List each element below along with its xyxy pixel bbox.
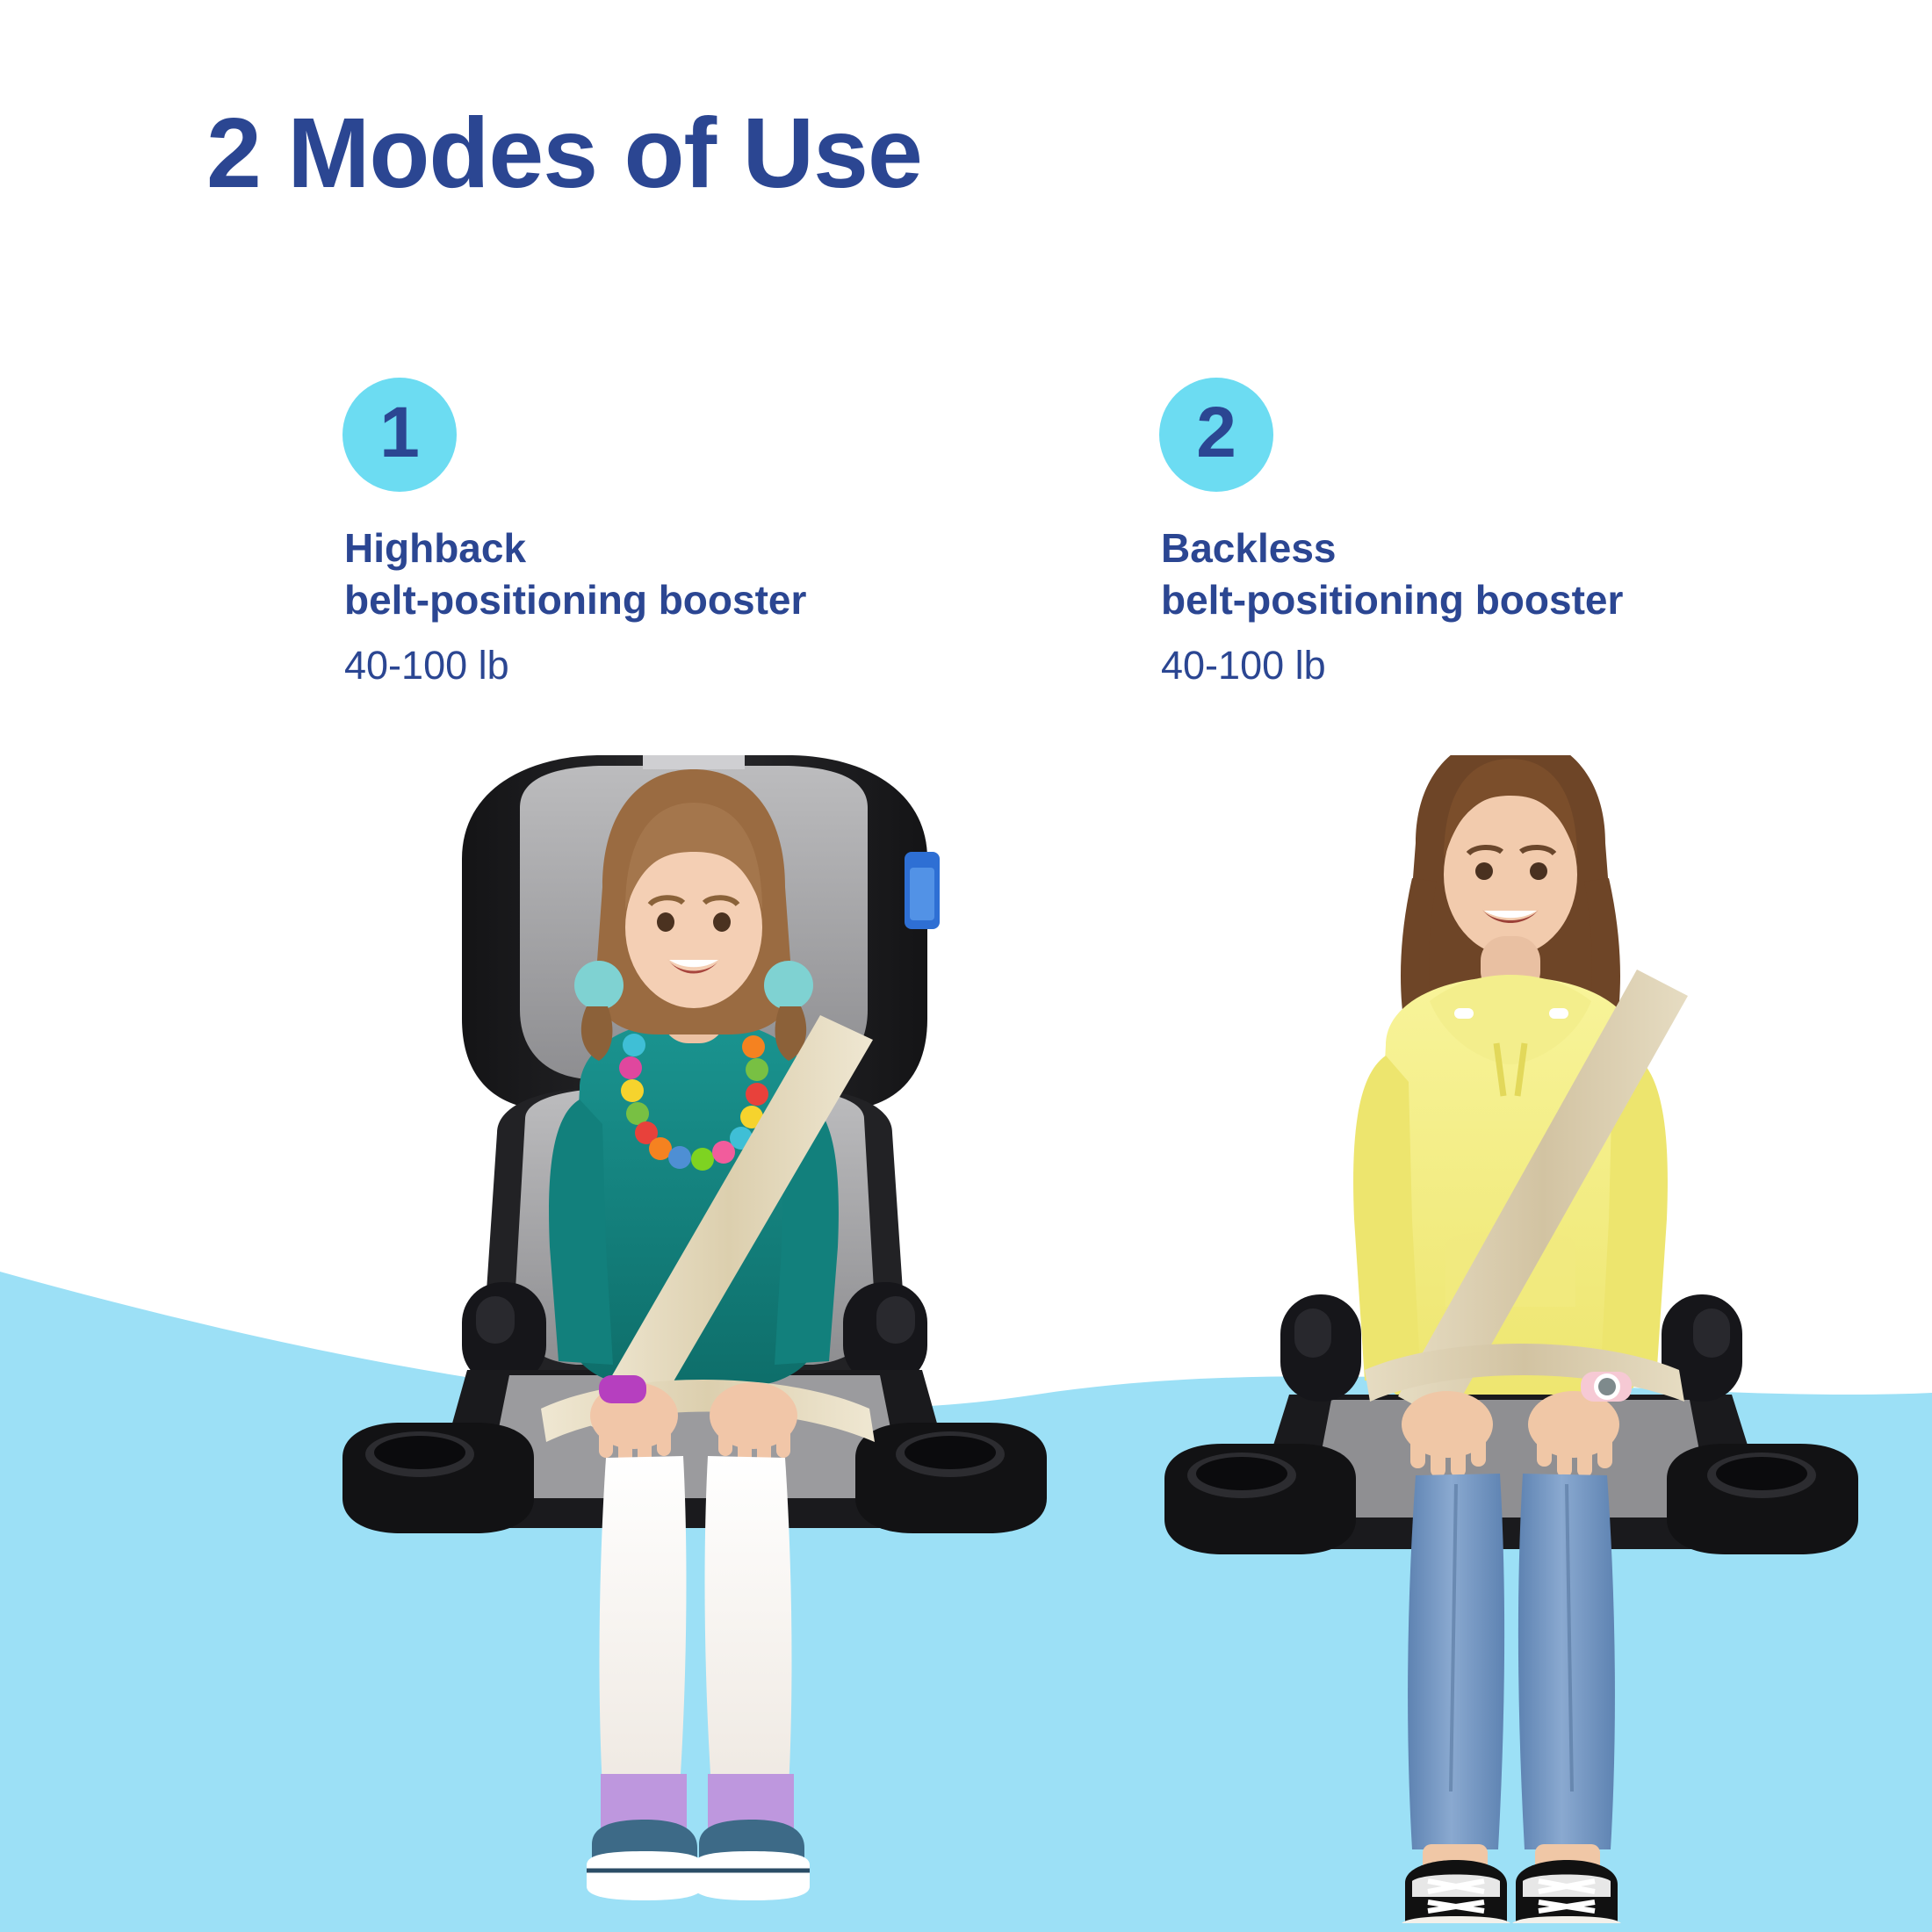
headrest-adjust-handle xyxy=(643,755,745,769)
hoodie-drawstring-left xyxy=(1454,1008,1474,1019)
girl-eye-right xyxy=(1530,862,1547,880)
child-leg-left xyxy=(600,1456,687,1788)
wristband xyxy=(599,1375,646,1403)
girl-shoe-right xyxy=(1510,1860,1623,1923)
girl-shoe-left xyxy=(1400,1860,1512,1923)
girl-face xyxy=(1444,794,1577,955)
cup-holder-right xyxy=(855,1423,1047,1533)
backless-booster-photo xyxy=(1107,755,1914,1923)
hoodie-drawstring-right xyxy=(1549,1008,1568,1019)
mode-weight-range-2: 40-100 lb xyxy=(1161,645,1326,685)
mode-title-2: Backless belt-positioning booster xyxy=(1161,523,1623,626)
infographic-canvas: 2 Modes of Use 1 Highback belt-positioni… xyxy=(0,0,1932,1932)
child-eye-right xyxy=(713,912,731,932)
cup-holder-left xyxy=(342,1423,534,1533)
step-badge-number-1: 1 xyxy=(379,397,420,469)
step-badge-1: 1 xyxy=(342,378,457,492)
backless-cup-holder-right xyxy=(1667,1444,1858,1554)
wrist-watch xyxy=(1581,1372,1632,1402)
child-shoe-right xyxy=(694,1774,810,1900)
hair-tie-right xyxy=(764,961,813,1010)
backless-seat-pad xyxy=(1316,1400,1704,1517)
child-shoe-left xyxy=(587,1774,703,1900)
step-badge-number-2: 2 xyxy=(1196,397,1236,469)
highback-booster-photo xyxy=(290,755,1098,1923)
girl-eye-left xyxy=(1475,862,1493,880)
mode-block-2: 2 Backless belt-positioning booster 40-1… xyxy=(1159,0,1862,1932)
step-badge-2: 2 xyxy=(1159,378,1273,492)
backless-armrest-left xyxy=(1280,1294,1361,1402)
hair-tie-left xyxy=(574,961,624,1010)
mode-block-1: 1 Highback belt-positioning booster 40-1… xyxy=(342,0,1045,1932)
warning-label-inner xyxy=(910,868,934,920)
child-eye-left xyxy=(657,912,674,932)
mode-title-1: Highback belt-positioning booster xyxy=(344,523,806,626)
backless-cup-holder-left xyxy=(1164,1444,1356,1554)
child-face xyxy=(625,847,762,1008)
mode-weight-range-1: 40-100 lb xyxy=(344,645,509,685)
child-leg-right xyxy=(705,1456,792,1788)
